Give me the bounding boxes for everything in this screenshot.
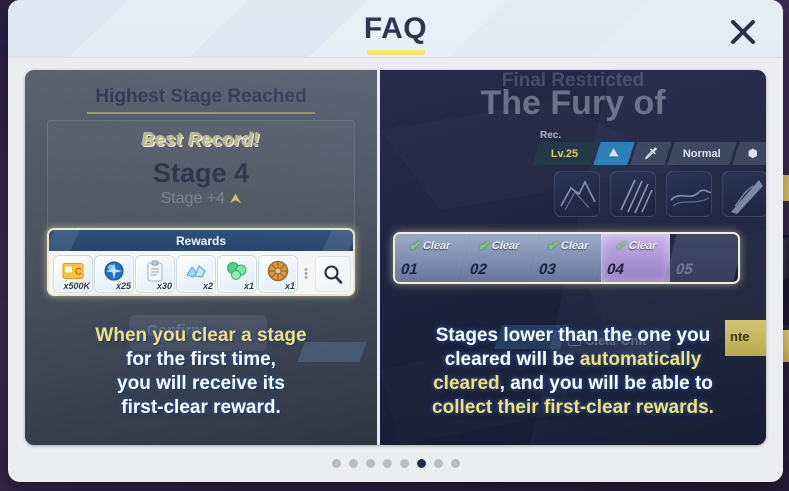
faq-panel-right: Final Restricted The Fury of Rec. Lv.25 … [380,70,766,445]
pagination-dot[interactable] [400,459,409,468]
stage-clear-status: ✔Clear [408,238,452,254]
skill-icon-1 [554,171,600,217]
header-divider [8,57,783,58]
close-button[interactable] [721,10,765,54]
background-confirm-label: Confirm [147,322,205,339]
clear-label: Clear [490,240,521,252]
reward-item[interactable]: x30 [136,256,174,292]
weapon-badge: 🗡 [630,142,671,165]
badge-label: ⛰ [609,147,618,160]
search-icon [323,264,343,284]
reward-qty: x30 [157,281,172,291]
pagination-dot[interactable] [332,459,341,468]
reward-item[interactable]: x1 [218,256,256,292]
clear-label: Clear [559,240,590,252]
reward-item[interactable]: x25 [95,256,133,292]
pagination-dots [8,459,783,468]
caption-line: collect their first-clear rewards. [432,397,714,418]
skill-icon-4 [722,171,766,217]
right-caption: Stages lower than the one you cleared wi… [386,324,760,420]
blue-orb-icon [104,260,125,285]
reward-qty: x1 [285,281,295,291]
stage-value: Stage 4 [25,158,377,189]
green-orbs-icon [226,261,248,285]
pagination-dot[interactable] [434,459,443,468]
page-title: FAQ [8,12,783,46]
rewards-search-button[interactable] [315,256,351,292]
reward-qty: x2 [203,281,213,291]
recommended-label: Rec. [540,130,561,141]
stage-title: The Fury of [380,84,766,123]
badge-label: 🗡 [644,147,658,160]
caption-line: for the first time, [126,349,276,370]
caption-line: cleared will be [445,349,580,370]
pagination-dot[interactable] [451,459,460,468]
badge-label: Lv.25 [551,148,578,160]
bronze-gear-icon [267,260,289,286]
svg-text:C: C [75,266,82,276]
stage-progress-bar: ✔Clear 01 ✔Clear 02 ✔Clear 03 ✔Clear 04 … [393,232,740,284]
pagination-dot-active[interactable] [417,459,426,468]
best-record-label: Best Record! [25,130,377,151]
best-record-card [47,120,355,290]
crystal-icon [185,263,207,283]
background-chip [298,342,366,362]
terrain-badge: ⛰ [593,142,634,165]
pagination-dot[interactable] [383,459,392,468]
reward-item[interactable]: x2 [177,256,215,292]
caption-line: , and you will be able to [500,373,713,394]
caption-line: Stages lower than the one you [436,325,711,346]
reward-item[interactable]: x1 [259,256,297,292]
stage-badge-row: Lv.25 ⛰ 🗡 Normal ⬢ S [536,142,766,165]
stage-clear-status: ✔Clear [546,238,590,254]
clear-label: Clear [421,240,452,252]
badge-label: Normal [683,148,721,160]
gold-card-icon: C [62,262,84,283]
more-dots-icon: ••• [300,268,312,280]
skill-icon-3 [666,171,712,217]
caption-line: you will receive its [117,373,285,394]
clear-label: Clear [628,240,659,252]
skill-icon-2 [610,171,656,217]
caption-line: When you clear a stage [95,325,306,346]
reward-qty: x25 [116,281,131,291]
faq-modal: FAQ Highest Stage Reached Best Record! S… [8,0,783,482]
reward-qty: x1 [244,281,254,291]
caption-line: cleared [433,373,500,394]
shield-badge: ⬢ [732,142,766,165]
stage-clear-status: ✔Clear [614,238,658,254]
title-underline [367,50,425,55]
pagination-dot[interactable] [349,459,358,468]
recommended-level-badge: Lv.25 [532,142,597,165]
rewards-panel: Rewards C x500K x25 [47,228,355,296]
up-arrow-icon: ⮝ [230,190,242,206]
stage-segment-locked[interactable]: 05 [664,234,740,282]
title-rule [87,112,315,114]
difficulty-badge: Normal [667,142,736,165]
caption-line: first-clear reward. [121,397,280,418]
stage-delta: Stage +4 ⮝ [25,190,377,208]
pagination-dot[interactable] [366,459,375,468]
faq-panel-left: Highest Stage Reached Best Record! Stage… [25,70,377,445]
clipboard-icon [146,260,164,286]
skill-icon-row [554,171,766,217]
caption-line: automatically [580,349,701,370]
rewards-item-list: C x500K x25 x30 [49,251,353,294]
reward-qty: x500K [63,281,90,291]
stage-delta-label: Stage +4 [161,190,226,207]
badge-label: ⬢ [748,147,758,160]
stage-segment[interactable]: ✔Clear 02 [458,234,540,282]
stage-clear-status: ✔Clear [477,238,521,254]
background-confirm-box [129,315,267,351]
faq-panels: Highest Stage Reached Best Record! Stage… [25,70,766,445]
highest-stage-title: Highest Stage Reached [25,86,377,108]
close-icon [728,17,758,47]
rewards-header: Rewards [49,230,353,251]
left-caption: When you clear a stage for the first tim… [31,324,371,420]
reward-item[interactable]: C x500K [54,256,92,292]
